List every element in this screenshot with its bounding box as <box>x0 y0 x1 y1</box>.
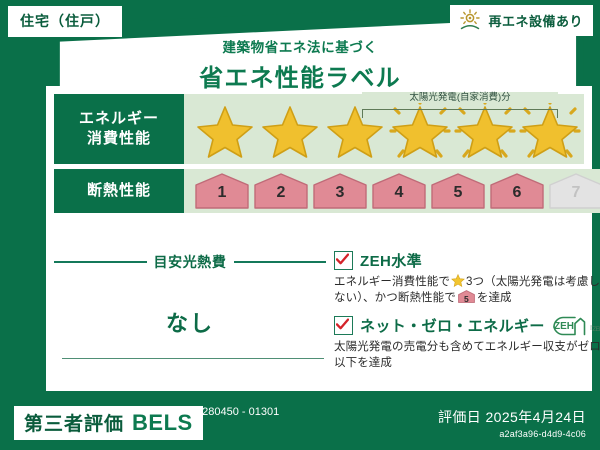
insulation-grade-value: 7 <box>548 184 600 202</box>
zeh-standard-checkbox <box>334 251 353 270</box>
performance-section: エネルギー 消費性能 太陽光発電(自家消費)分 断熱性能 1234567 <box>54 94 584 218</box>
zeh-block: ZEH水準 エネルギー消費性能で3つ（太陽光発電は考慮しない）、かつ断熱性能で5… <box>326 246 600 381</box>
star-6 <box>519 99 581 159</box>
evaluation-hash: a2af3a96-d4d9-4c06 <box>438 429 586 439</box>
cost-rule-left <box>54 261 147 262</box>
renewable-badge-label: 再エネ設備あり <box>488 11 583 30</box>
insulation-grade-value: 6 <box>489 184 545 202</box>
net-zero-checkbox <box>334 316 353 335</box>
bels-badge: 第三者評価 BELS <box>14 406 203 440</box>
star-2 <box>259 99 321 159</box>
zeh-desc-part1: エネルギー消費性能で <box>334 276 450 288</box>
energy-performance-row: エネルギー 消費性能 太陽光発電(自家消費)分 <box>54 94 584 164</box>
insulation-performance-row: 断熱性能 1234567 <box>54 169 584 213</box>
cost-rule-bottom <box>62 358 324 359</box>
bels-logo-text: BELS <box>132 410 193 436</box>
bels-id: 0280450 - 01301 <box>196 406 316 420</box>
zeh-logo-text: ZEH <box>554 321 574 332</box>
star-3 <box>324 99 386 159</box>
check-icon <box>336 318 349 331</box>
energy-label-line1: エネルギー <box>79 109 159 129</box>
label-body-panel: エネルギー 消費性能 太陽光発電(自家消費)分 断熱性能 1234567 <box>46 86 592 391</box>
star-shape <box>393 107 447 157</box>
renewable-equipment-badge: 再エネ設備あり <box>450 5 593 36</box>
check-icon <box>336 253 349 266</box>
insulation-grades-cell: 1234567 <box>184 169 600 213</box>
insulation-grade-scale: 1234567 <box>184 172 600 210</box>
zeh-standard-title-row: ZEH水準 <box>334 250 600 271</box>
zeh-house-icon: ZEH <box>552 315 586 336</box>
zeh-logo: ZEH 『ZEH』 <box>552 315 600 336</box>
star-shape <box>263 107 317 157</box>
net-zero-title: ネット・ゼロ・エネルギー <box>360 315 545 336</box>
zeh-standard-item: ZEH水準 エネルギー消費性能で3つ（太陽光発電は考慮しない）、かつ断熱性能で5… <box>334 250 600 307</box>
lower-section: 目安光熱費 なし ZEH水準 <box>54 246 584 381</box>
star-shape <box>328 107 382 157</box>
star-4 <box>389 99 451 159</box>
sun-renewable-icon <box>458 9 482 31</box>
star-5 <box>454 99 516 159</box>
insulation-grade-value: 5 <box>430 184 486 202</box>
zeh-standard-description: エネルギー消費性能で3つ（太陽光発電は考慮しない）、かつ断熱性能で5を達成 <box>334 274 600 307</box>
inline-grade-value: 5 <box>458 293 475 305</box>
zeh-standard-title: ZEH水準 <box>360 250 422 271</box>
insulation-grade-1: 1 <box>194 172 250 210</box>
insulation-grade-4: 4 <box>371 172 427 210</box>
star-icon <box>451 274 465 287</box>
inline-grade-badge: 5 <box>458 290 475 303</box>
star-rating <box>184 99 584 159</box>
insulation-grade-7: 7 <box>548 172 600 210</box>
insulation-grade-value: 2 <box>253 184 309 202</box>
insulation-grade-5: 5 <box>430 172 486 210</box>
utility-cost-header: 目安光熱費 <box>54 252 326 272</box>
zeh-desc-part3: を達成 <box>477 292 512 304</box>
energy-label-line2: 消費性能 <box>87 129 151 149</box>
insulation-grade-value: 1 <box>194 184 250 202</box>
net-zero-description: 太陽光発電の売電分も含めてエネルギー収支がゼロ以下を達成 <box>334 339 600 372</box>
insulation-grade-3: 3 <box>312 172 368 210</box>
net-zero-energy-item: ネット・ゼロ・エネルギー ZEH 『ZEH』 太陽光発電の売電分も含めてエネルギ… <box>334 315 600 372</box>
insulation-label: 断熱性能 <box>87 181 151 201</box>
utility-cost-block: 目安光熱費 なし <box>54 246 326 381</box>
star-1 <box>194 99 256 159</box>
utility-cost-value: なし <box>54 306 326 338</box>
evaluation-date: 評価日 2025年4月24日 <box>438 407 586 427</box>
insulation-grade-6: 6 <box>489 172 545 210</box>
evaluation-info: 評価日 2025年4月24日 a2af3a96-d4d9-4c06 <box>438 407 586 439</box>
zeh-logo-caption: 『ZEH』 <box>587 327 600 336</box>
insulation-grade-value: 3 <box>312 184 368 202</box>
net-zero-title-row: ネット・ゼロ・エネルギー ZEH 『ZEH』 <box>334 315 600 336</box>
insulation-grade-2: 2 <box>253 172 309 210</box>
energy-performance-label-cell: エネルギー 消費性能 <box>54 94 184 164</box>
energy-performance-label: 住宅（住戸） 再エネ設備あり 建築物省エネ法に基づく 省エネ性能ラベル <box>0 0 600 450</box>
star-shape <box>523 107 577 157</box>
third-party-label: 第三者評価 <box>24 409 124 436</box>
insulation-performance-label-cell: 断熱性能 <box>54 169 184 213</box>
building-type-chip: 住宅（住戸） <box>8 6 122 37</box>
footer-bar: 第三者評価 BELS 0280450 - 01301 評価日 2025年4月24… <box>0 398 600 450</box>
star-shape <box>198 107 252 157</box>
star-shape <box>458 107 512 157</box>
utility-cost-title: 目安光熱費 <box>154 252 227 272</box>
insulation-grade-value: 4 <box>371 184 427 202</box>
energy-stars-cell: 太陽光発電(自家消費)分 <box>184 94 584 164</box>
cost-rule-right <box>234 261 327 262</box>
